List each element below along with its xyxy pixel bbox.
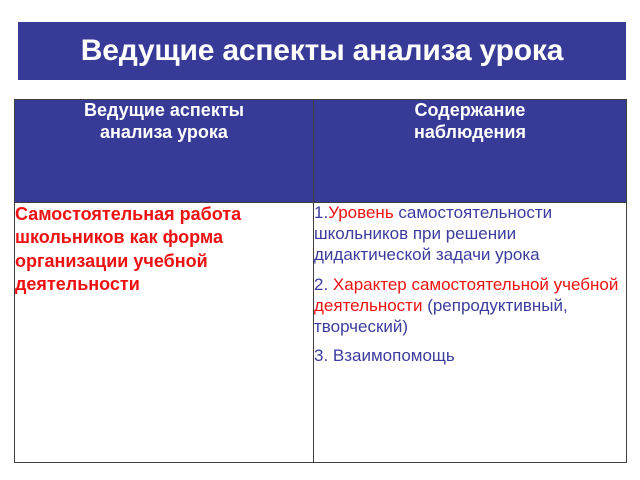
observation-item-number: 1. <box>314 203 328 222</box>
aspect-cell: Самостоятельная работа школьников как фо… <box>15 203 314 463</box>
column-header-observation-line2: наблюдения <box>314 122 626 144</box>
column-header-observation: Содержание наблюдения <box>314 100 627 203</box>
slide-title-banner: Ведущие аспекты анализа урока <box>18 22 626 80</box>
page-title: Ведущие аспекты анализа урока <box>81 36 563 66</box>
column-header-aspects-line2: анализа урока <box>15 122 313 144</box>
column-header-aspects-line1: Ведущие аспекты <box>15 100 313 122</box>
observation-list: 1.Уровень самостоятельности школьников п… <box>314 203 626 367</box>
column-header-aspects: Ведущие аспекты анализа урока <box>15 100 314 203</box>
table-header: Ведущие аспекты анализа урока Содержание… <box>15 100 627 203</box>
observation-item-number: 3. <box>314 346 333 365</box>
observation-item-text: Уровень <box>328 203 394 222</box>
observation-item-text: Взаимопомощь <box>333 346 455 365</box>
table-header-row: Ведущие аспекты анализа урока Содержание… <box>15 100 627 203</box>
aspect-title: Самостоятельная работа школьников как фо… <box>15 203 313 297</box>
observation-item-number: 2. <box>314 275 333 294</box>
table-row: Самостоятельная работа школьников как фо… <box>15 203 627 463</box>
column-header-observation-line1: Содержание <box>314 100 626 122</box>
lesson-analysis-table: Ведущие аспекты анализа урока Содержание… <box>14 99 627 463</box>
observation-cell: 1.Уровень самостоятельности школьников п… <box>314 203 627 463</box>
table-body: Самостоятельная работа школьников как фо… <box>15 203 627 463</box>
observation-item: 3. Взаимопомощь <box>314 346 626 367</box>
observation-item: 2. Характер самостоятельной учебной деят… <box>314 275 626 338</box>
observation-item: 1.Уровень самостоятельности школьников п… <box>314 203 626 266</box>
